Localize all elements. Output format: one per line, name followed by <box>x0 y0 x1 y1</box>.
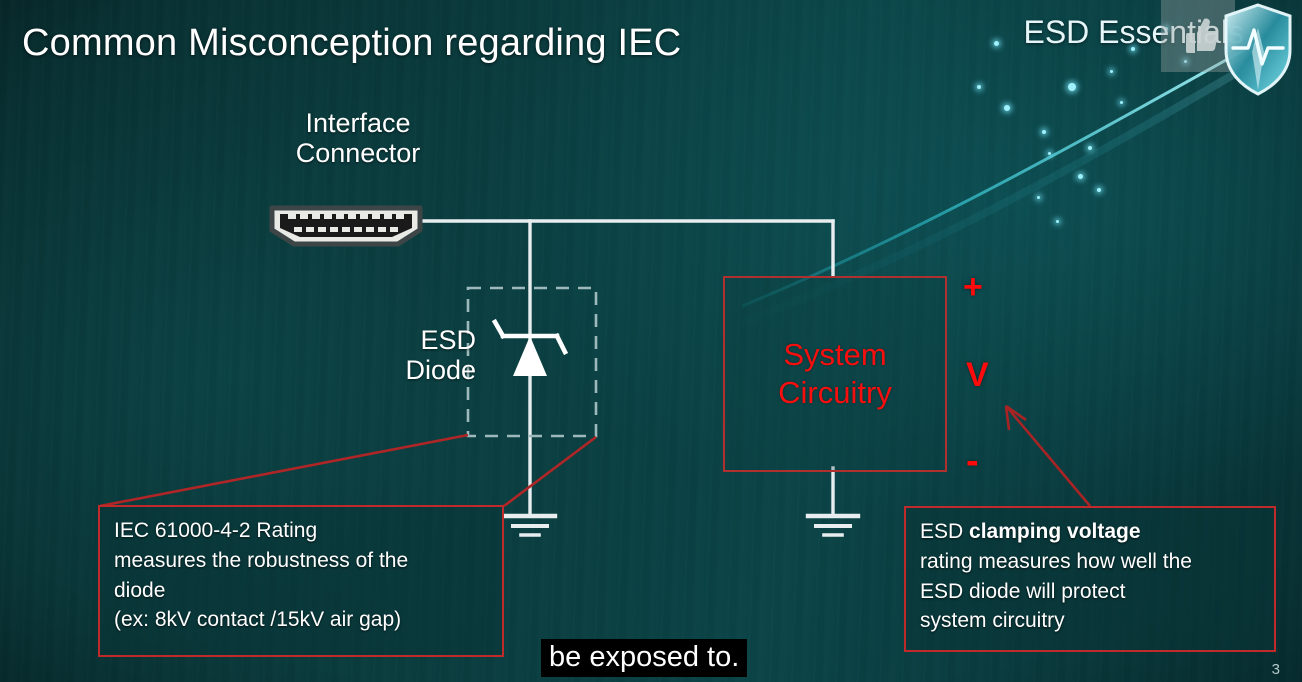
esd-diode-label-line2: Diode <box>346 355 476 385</box>
interface-connector-label-line1: Interface <box>258 108 458 138</box>
callout-left-line1: IEC 61000-4-2 Rating <box>114 516 488 546</box>
callout-iec-rating: IEC 61000-4-2 Rating measures the robust… <box>98 505 504 657</box>
polarity-plus-label: + <box>963 268 983 307</box>
callout-left-pointer <box>100 435 596 506</box>
callout-left-line2: measures the robustness of the <box>114 546 488 576</box>
interface-connector-label-line2: Connector <box>258 138 458 168</box>
callout-right-line2: rating measures how well the <box>920 547 1260 577</box>
callout-right-line3: ESD diode will protect <box>920 577 1260 607</box>
ground-symbol-diode <box>505 516 555 535</box>
esd-diode-label: ESD Diode <box>346 325 476 385</box>
hdmi-connector-icon <box>266 204 426 248</box>
page-number: 3 <box>1272 661 1280 678</box>
video-caption: be exposed to. <box>541 639 747 677</box>
callout-clamping-voltage: ESD clamping voltage rating measures how… <box>904 506 1276 652</box>
system-circuitry-block: System Circuitry <box>723 276 947 472</box>
callout-right-bold: clamping voltage <box>969 520 1141 543</box>
system-circuitry-line2: Circuitry <box>778 374 892 412</box>
slide-canvas: Common Misconception regarding IEC ESD E… <box>0 0 1302 682</box>
callout-right-line1: ESD clamping voltage <box>920 517 1260 547</box>
callout-left-line3: diode <box>114 576 488 606</box>
callout-left-line4: (ex: 8kV contact /15kV air gap) <box>114 605 488 635</box>
ground-symbol-system <box>808 516 858 535</box>
interface-connector-label: Interface Connector <box>258 108 458 168</box>
callout-right-line4: system circuitry <box>920 606 1260 636</box>
callout-right-arrow <box>1006 406 1090 506</box>
system-circuitry-line1: System <box>783 336 886 374</box>
polarity-voltage-label: V <box>966 356 989 395</box>
polarity-minus-label: - <box>966 440 979 483</box>
callout-right-prefix: ESD <box>920 520 969 543</box>
esd-diode-label-line1: ESD <box>346 325 476 355</box>
